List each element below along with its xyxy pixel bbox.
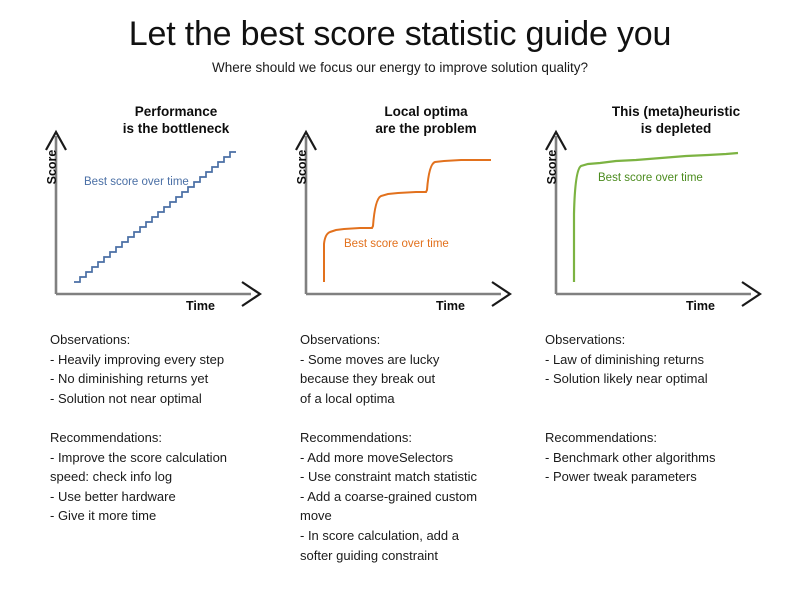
observations-heading: Observations: <box>50 330 290 350</box>
observations-heading: Observations: <box>300 330 540 350</box>
slide-root: Let the best score statistic guide you W… <box>0 0 800 600</box>
notes-column-performance: Observations: - Heavily improving every … <box>50 330 290 526</box>
section-spacer <box>50 408 290 428</box>
observation-item: - Solution not near optimal <box>50 389 290 409</box>
chart-canvas <box>36 104 286 324</box>
series-annotation: Best score over time <box>84 176 189 188</box>
recommendation-item: - Add more moveSelectors <box>300 448 540 468</box>
recommendations-heading: Recommendations: <box>50 428 290 448</box>
recommendation-item: - Use constraint match statistic <box>300 467 540 487</box>
recommendations-heading: Recommendations: <box>545 428 790 448</box>
observation-item: because they break out <box>300 369 540 389</box>
page-subtitle: Where should we focus our energy to impr… <box>0 60 800 75</box>
series-annotation: Best score over time <box>598 172 703 184</box>
section-spacer <box>300 408 540 428</box>
x-axis-label: Time <box>186 299 266 313</box>
charts-row: Performance is the bottleneck Score Time… <box>0 104 800 324</box>
observation-item: - No diminishing returns yet <box>50 369 290 389</box>
y-axis-label: Score <box>45 137 59 197</box>
recommendation-item: move <box>300 506 540 526</box>
recommendation-item: - Give it more time <box>50 506 290 526</box>
recommendation-item: - Power tweak parameters <box>545 467 790 487</box>
x-axis-label: Time <box>436 299 516 313</box>
notes-column-local-optima: Observations: - Some moves are lucky bec… <box>300 330 540 565</box>
series-line-orange <box>324 160 491 282</box>
chart-local-optima: Local optima are the problem Score Time … <box>286 104 536 324</box>
observation-item: of a local optima <box>300 389 540 409</box>
page-title: Let the best score statistic guide you <box>0 16 800 53</box>
observation-item: - Solution likely near optimal <box>545 369 790 389</box>
notes-column-depleted: Observations: - Law of diminishing retur… <box>545 330 790 487</box>
observations-heading: Observations: <box>545 330 790 350</box>
observation-item: - Some moves are lucky <box>300 350 540 370</box>
observation-item: - Heavily improving every step <box>50 350 290 370</box>
recommendation-item: speed: check info log <box>50 467 290 487</box>
observation-item: - Law of diminishing returns <box>545 350 790 370</box>
series-annotation: Best score over time <box>344 238 449 250</box>
recommendation-item: - Add a coarse-grained custom <box>300 487 540 507</box>
recommendation-item: softer guiding constraint <box>300 546 540 566</box>
recommendation-item: - Benchmark other algorithms <box>545 448 790 468</box>
recommendation-item: - Improve the score calculation <box>50 448 290 468</box>
chart-canvas <box>286 104 536 324</box>
y-axis-label: Score <box>295 137 309 197</box>
chart-canvas <box>536 104 786 324</box>
recommendation-item: - In score calculation, add a <box>300 526 540 546</box>
recommendation-item: - Use better hardware <box>50 487 290 507</box>
section-spacer <box>545 389 790 409</box>
recommendations-heading: Recommendations: <box>300 428 540 448</box>
chart-performance-bottleneck: Performance is the bottleneck Score Time… <box>36 104 286 324</box>
x-axis-label: Time <box>686 299 766 313</box>
chart-metaheuristic-depleted: This (meta)heuristic is depleted Score T… <box>536 104 786 324</box>
notes-row: Observations: - Heavily improving every … <box>0 330 800 600</box>
y-axis-label: Score <box>545 137 559 197</box>
section-spacer <box>545 408 790 428</box>
series-line-blue <box>74 152 236 282</box>
